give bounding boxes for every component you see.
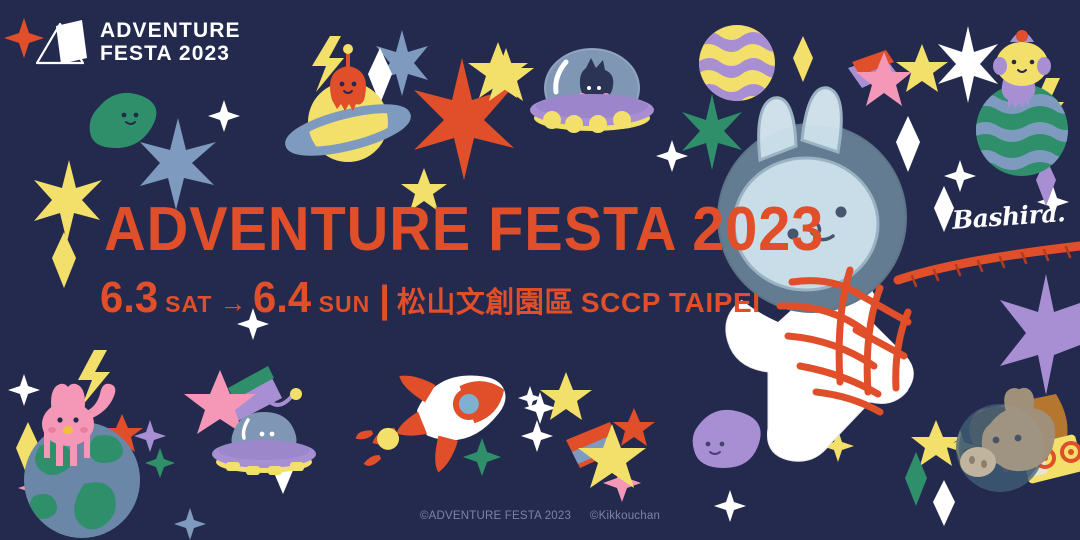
dow-end: SUN xyxy=(319,293,371,316)
divider: | xyxy=(379,281,390,319)
date-start: 6.3 xyxy=(100,276,158,320)
copyright-event: ©ADVENTURE FESTA 2023 xyxy=(420,510,571,522)
date-end: 6.4 xyxy=(253,276,311,320)
adventure-festa-banner: ADVENTURE FESTA 2023 ADVENTURE FESTA 202… xyxy=(0,0,1080,540)
venue-name-en: SCCP TAIPEI xyxy=(581,289,761,317)
footer-copyright: ©ADVENTURE FESTA 2023 ©Kikkouchan xyxy=(0,510,1080,522)
dow-start: SAT xyxy=(165,293,212,316)
tent-icon xyxy=(34,18,90,68)
logo-line2: FESTA 2023 xyxy=(100,43,241,66)
venue-name-zh: 松山文創園區 xyxy=(397,289,574,318)
event-logo: ADVENTURE FESTA 2023 xyxy=(34,18,241,68)
space-background-art xyxy=(0,0,1080,540)
logo-line1: ADVENTURE xyxy=(100,20,241,43)
arrow-icon: → xyxy=(219,290,246,317)
page-title: ADVENTURE FESTA 2023 xyxy=(104,199,824,261)
copyright-artist: ©Kikkouchan xyxy=(590,510,660,522)
event-dateline: 6.3 SAT → 6.4 SUN | 松山文創園區 SCCP TAIPEI xyxy=(100,276,761,320)
